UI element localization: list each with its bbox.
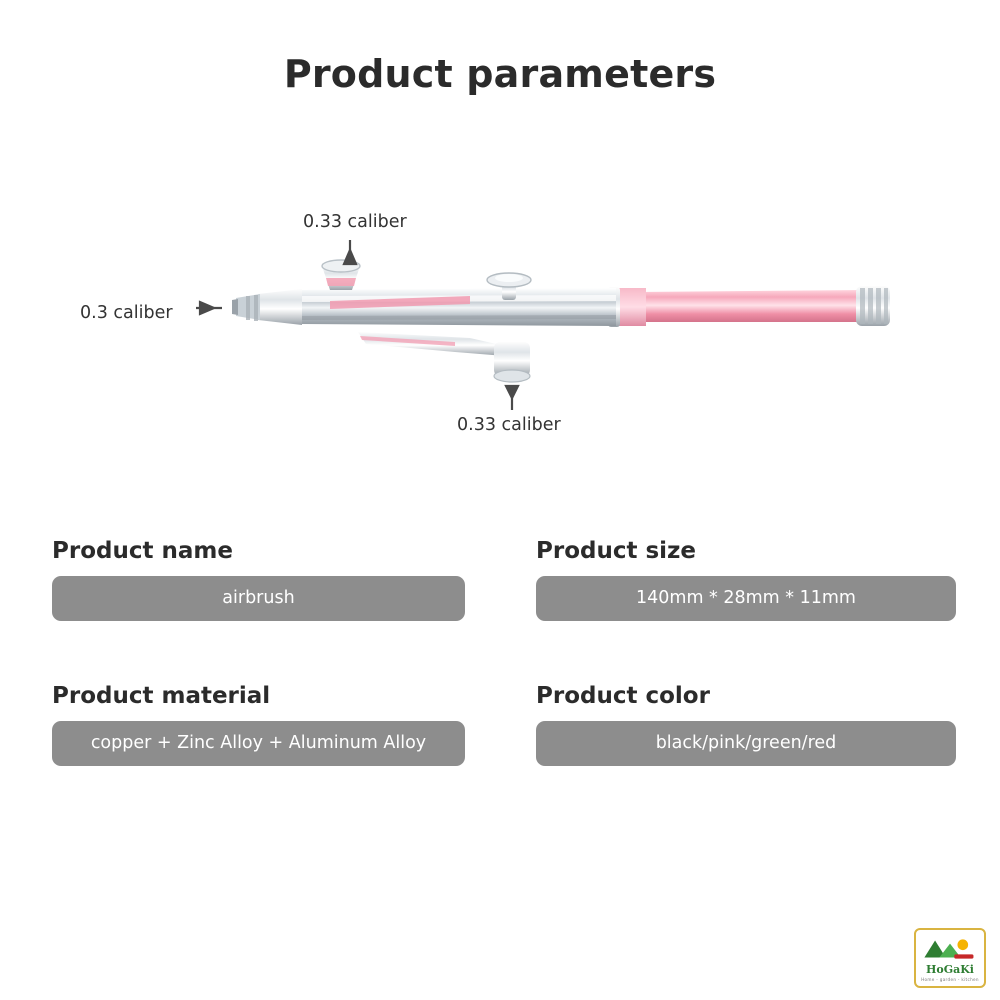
callout-top-label: 0.33 caliber [303, 212, 407, 232]
spec-label-product-name: Product name [52, 538, 482, 564]
logo-mark-icon [918, 934, 982, 964]
airbrush-diagram: 0.33 caliber 0.3 caliber 0.33 caliber [0, 170, 1000, 490]
spec-label-product-material: Product material [52, 683, 482, 709]
airbrush-body [232, 260, 890, 438]
spec-value-product-color: black/pink/green/red [536, 721, 956, 766]
callout-left-label: 0.3 caliber [80, 303, 173, 323]
spec-value-product-material: copper + Zinc Alloy + Aluminum Alloy [52, 721, 465, 766]
spec-product-color: Product color black/pink/green/red [536, 683, 956, 766]
spec-product-name: Product name airbrush [52, 538, 482, 621]
spec-value-product-size: 140mm * 28mm * 11mm [536, 576, 956, 621]
product-parameters-page: Product parameters [0, 0, 1000, 1000]
spec-label-product-size: Product size [536, 538, 956, 564]
page-title: Product parameters [0, 52, 1000, 96]
logo-name: HoGaKi [926, 964, 974, 975]
callout-bottom-label: 0.33 caliber [457, 415, 561, 435]
airbrush-illustration-svg [0, 170, 1000, 490]
spec-value-product-name: airbrush [52, 576, 465, 621]
spec-product-size: Product size 140mm * 28mm * 11mm [536, 538, 956, 621]
logo-tagline: Home - garden - kitchen [921, 977, 979, 982]
spec-product-material: Product material copper + Zinc Alloy + A… [52, 683, 482, 766]
brand-logo: HoGaKi Home - garden - kitchen [914, 928, 986, 988]
spec-label-product-color: Product color [536, 683, 956, 709]
